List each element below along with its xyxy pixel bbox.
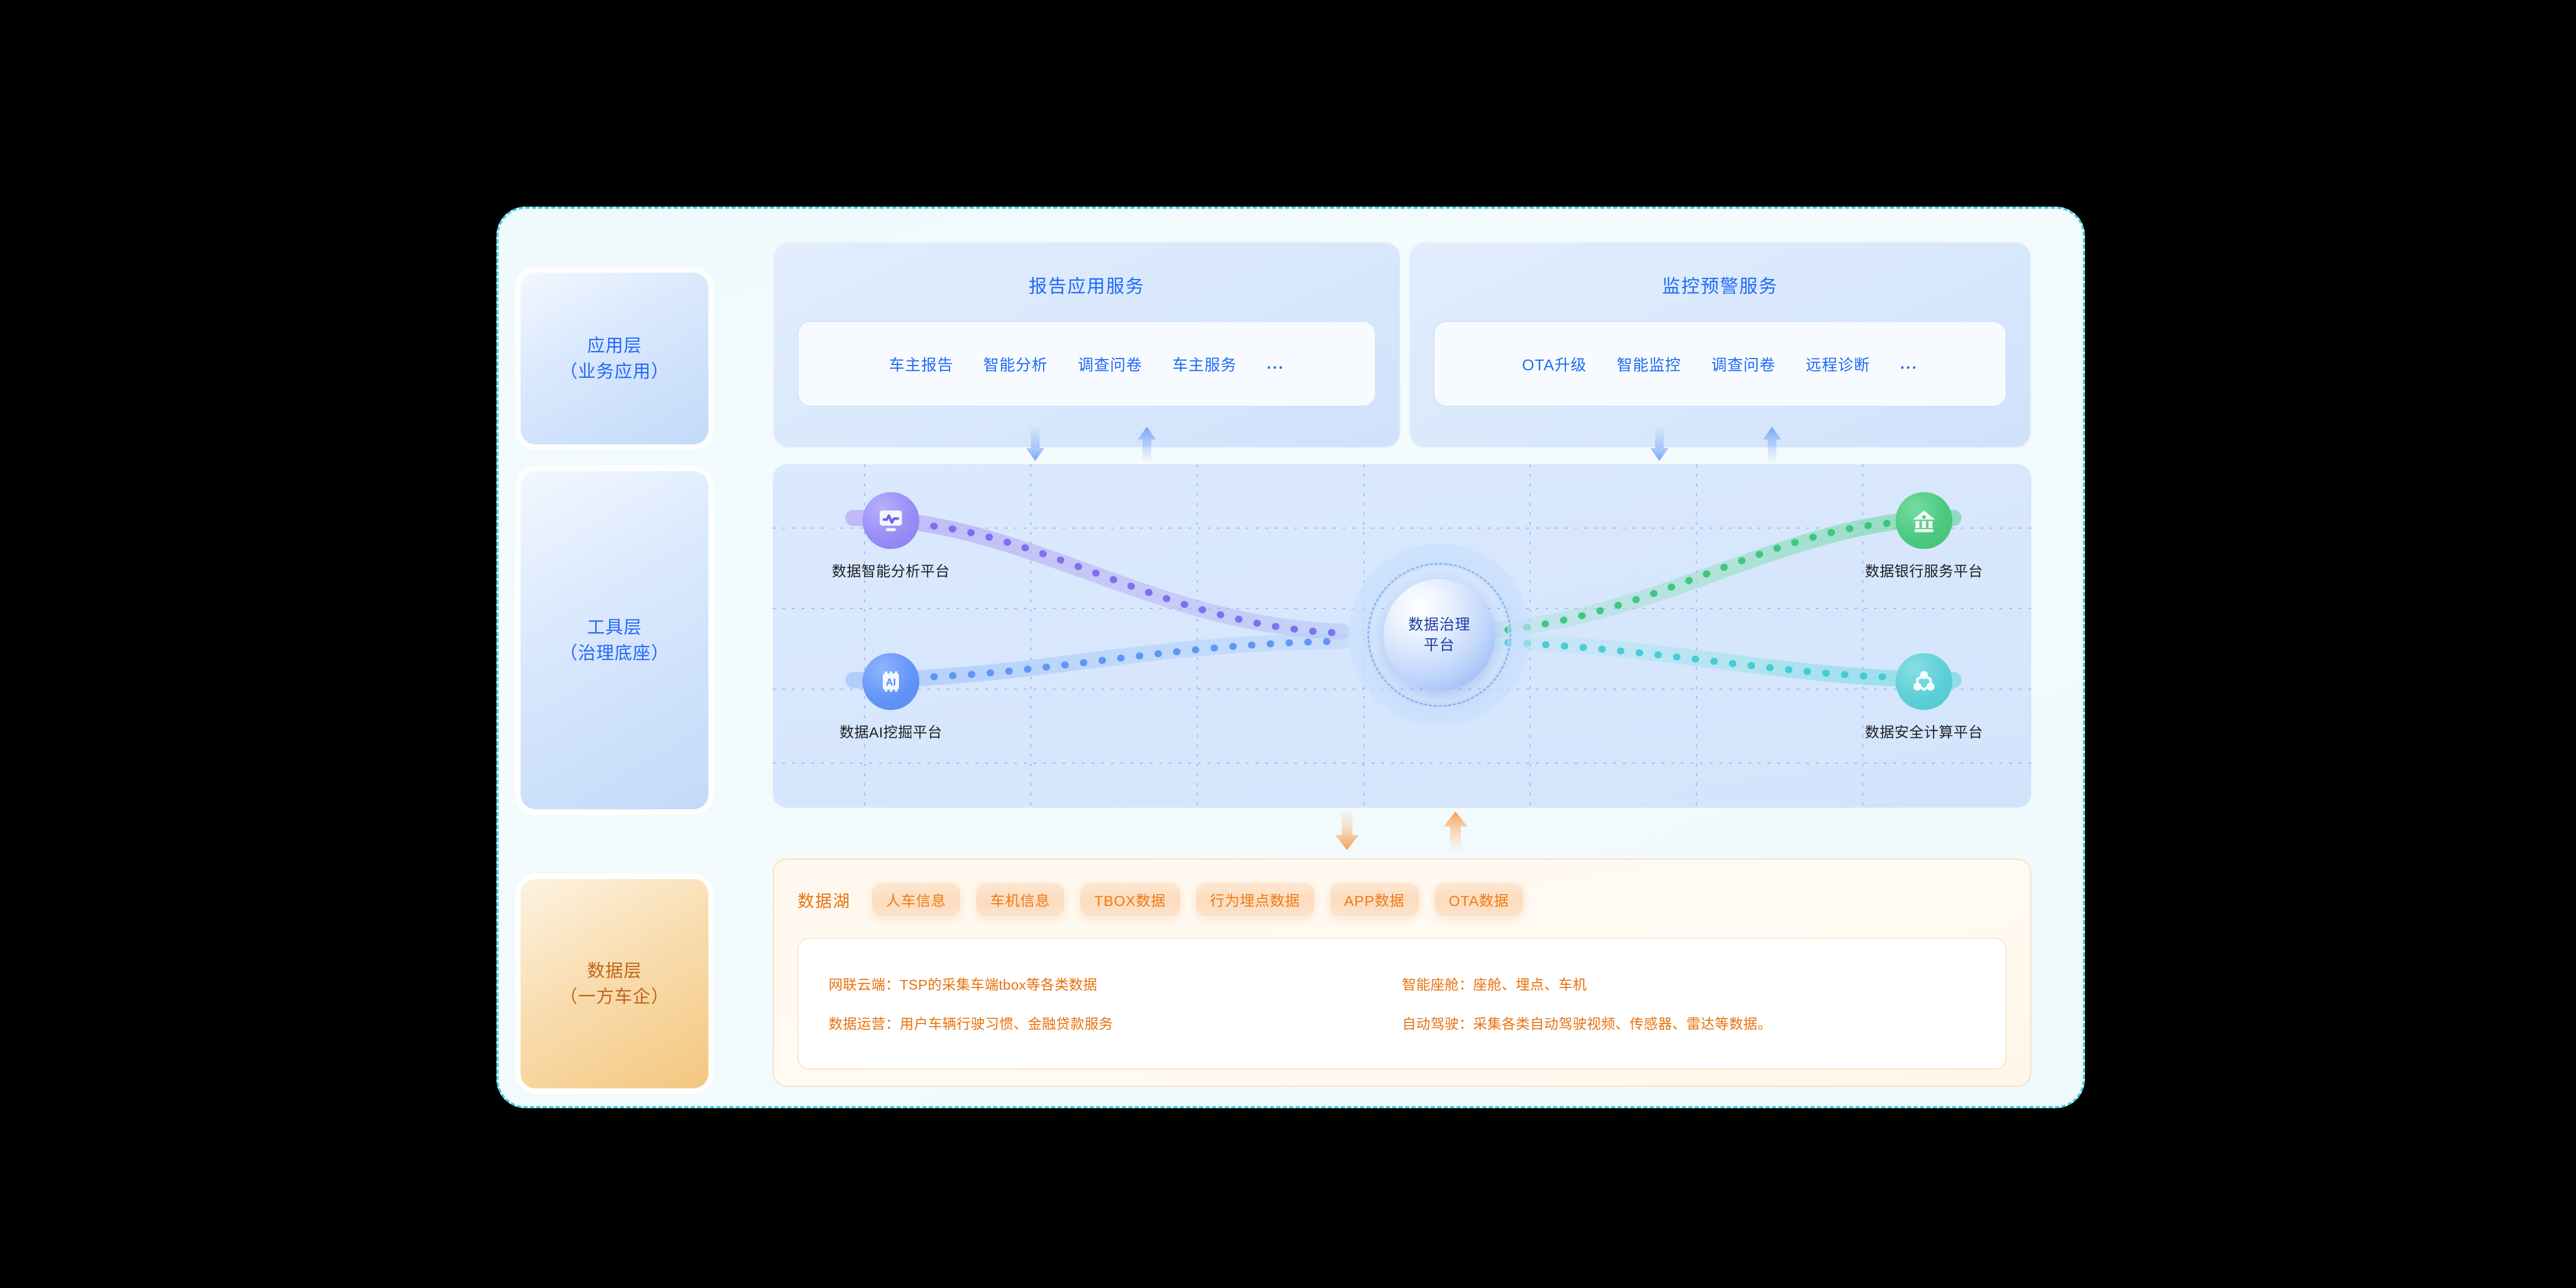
rail-tool-line2: （治理底座） [560,640,669,666]
node-data-secure-compute-platform[interactable]: 数据安全计算平台 [1838,653,2010,742]
arrow-down-blue-right [1650,427,1668,461]
arrow-up-orange [1444,811,1467,850]
detail-line-autodrive: 自动驾驶：采集各类自动驾驶视频、传感器、雷达等数据。 [1402,1013,1976,1033]
monitor-chart-icon [862,492,919,549]
tool-layer-panel: 数据治理 平台 数据智能分析平台 [773,464,2031,808]
app-tag[interactable]: OTA升级 [1522,353,1586,375]
rail-tool-layer: 工具层 （治理底座） [521,471,708,809]
app-tag[interactable]: 调查问卷 [1078,353,1142,375]
app-tag[interactable]: 车主服务 [1172,353,1236,375]
rail-application-layer: 应用层 （业务应用） [521,273,708,444]
arrow-up-blue-left [1138,427,1156,461]
app-card-title: 报告应用服务 [773,272,1401,298]
app-card-report-service[interactable]: 报告应用服务 车主报告 智能分析 调查问卷 车主服务 ... [773,241,1401,448]
data-lake-chip[interactable]: 人车信息 [871,882,961,918]
data-lake-chip[interactable]: APP数据 [1329,882,1420,918]
hub-core: 数据治理 平台 [1384,579,1495,691]
arrow-down-orange [1335,811,1359,850]
arrow-down-blue-left [1026,427,1044,461]
rail-application-line1: 应用层 [587,333,642,358]
data-lake-chip[interactable]: 车机信息 [975,882,1065,918]
app-tag[interactable]: 车主报告 [889,353,953,375]
data-lake-chip[interactable]: TBOX数据 [1079,882,1181,918]
ai-chip-icon: AI [862,653,919,710]
bank-icon [1896,492,1952,549]
hub-label-line1: 数据治理 [1408,614,1470,635]
data-lake-row: 数据湖 人车信息 车机信息 TBOX数据 行为埋点数据 APP数据 OTA数据 [797,878,2014,921]
node-data-bank-service-platform[interactable]: 数据银行服务平台 [1838,492,2010,581]
app-tag[interactable]: 远程诊断 [1806,353,1870,375]
app-tag-strip: OTA升级 智能监控 调查问卷 远程诊断 ... [1433,321,2007,407]
app-tag-more[interactable]: ... [1900,355,1918,373]
app-tag[interactable]: 智能分析 [983,353,1048,375]
rail-data-layer: 数据层 （一方车企） [521,879,708,1088]
arrow-up-blue-right [1763,427,1781,461]
node-label: 数据智能分析平台 [805,560,977,581]
detail-line-cloud: 网联云端：TSP的采集车端tbox等各类数据 [829,974,1402,994]
data-lake-chip[interactable]: 行为埋点数据 [1195,882,1315,918]
rail-application-line2: （业务应用） [560,358,669,384]
secure-network-icon [1896,653,1952,710]
svg-text:AI: AI [886,677,896,688]
rail-tool-line1: 工具层 [587,614,642,640]
app-tag-more[interactable]: ... [1267,355,1284,373]
central-hub[interactable]: 数据治理 平台 [1348,544,1531,726]
rail-data-line2: （一方车企） [560,984,669,1009]
detail-line-cockpit: 智能座舱：座舱、埋点、车机 [1402,974,1976,994]
hub-label-line2: 平台 [1424,635,1455,655]
node-data-ai-mining-platform[interactable]: AI 数据AI挖掘平台 [805,653,977,742]
node-label: 数据银行服务平台 [1838,560,2010,581]
app-tag[interactable]: 智能监控 [1617,353,1681,375]
app-card-title: 监控预警服务 [1409,272,2031,298]
detail-line-ops: 数据运营：用户车辆行驶习惯、金融贷款服务 [829,1013,1402,1033]
app-card-monitor-alert-service[interactable]: 监控预警服务 OTA升级 智能监控 调查问卷 远程诊断 ... [1409,241,2031,448]
node-label: 数据AI挖掘平台 [805,721,977,742]
app-tag-strip: 车主报告 智能分析 调查问卷 车主服务 ... [797,321,1376,407]
node-data-analysis-platform[interactable]: 数据智能分析平台 [805,492,977,581]
data-lake-chip[interactable]: OTA数据 [1434,882,1525,918]
data-layer-panel: 数据湖 人车信息 车机信息 TBOX数据 行为埋点数据 APP数据 OTA数据 … [773,859,2031,1087]
diagram-canvas: 应用层 （业务应用） 工具层 （治理底座） 数据层 （一方车企） 报告应用服务 … [0,0,2576,1288]
node-label: 数据安全计算平台 [1838,721,2010,742]
data-lake-title: 数据湖 [797,888,851,912]
data-detail-box: 网联云端：TSP的采集车端tbox等各类数据 智能座舱：座舱、埋点、车机 数据运… [797,938,2007,1070]
app-tag[interactable]: 调查问卷 [1711,353,1776,375]
rail-data-line1: 数据层 [587,958,642,984]
